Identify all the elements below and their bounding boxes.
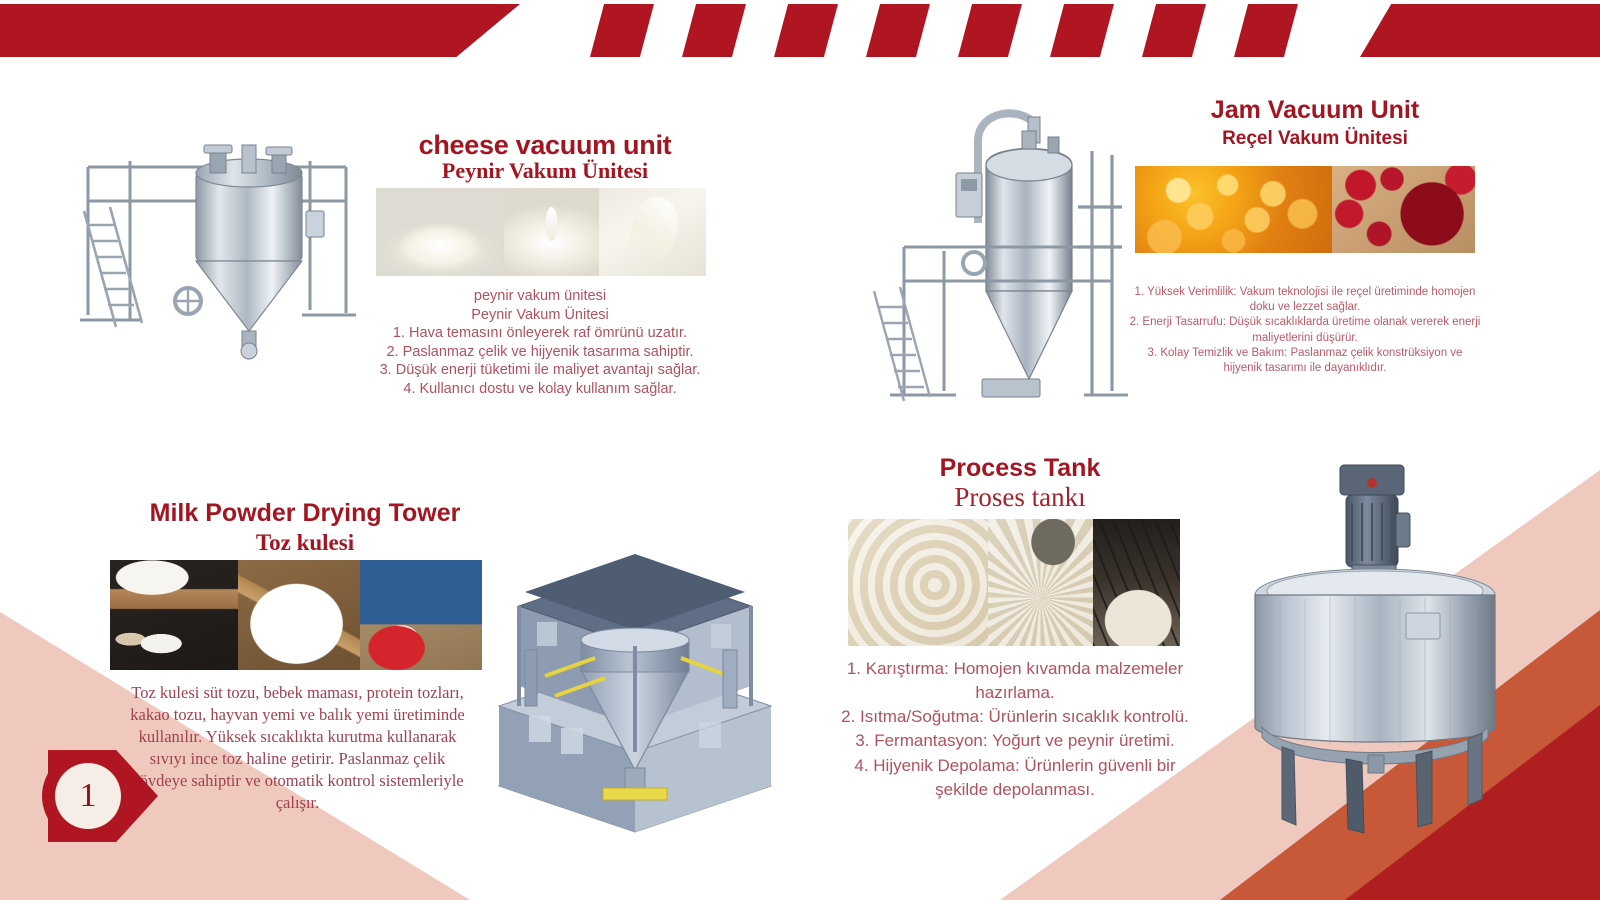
jam-vacuum-unit-description: 1. Yüksek Verimlilik: Vakum teknolojisi … <box>1125 285 1485 376</box>
tank-desc-line-5: 4. Hijyenik Depolama: Ürünlerin güvenli … <box>830 754 1200 778</box>
cheese-vacuum-unit-title-en: cheese vacuum unit <box>370 131 720 160</box>
process-tank-svg <box>1220 455 1530 835</box>
milk-powder-title-tr: Toz kulesi <box>115 530 495 555</box>
jam-desc-line-1: 1. Yüksek Verimlilik: Vakum teknolojisi … <box>1125 285 1485 300</box>
milk-splash-crown-photo <box>376 188 504 276</box>
header-stripe-1 <box>590 4 654 57</box>
jam-vacuum-unit-title-en: Jam Vacuum Unit <box>1140 97 1490 124</box>
cheese-desc-line-1: peynir vakum ünitesi <box>360 287 720 306</box>
jam-desc-line-4: maliyetlerini düşürür. <box>1125 331 1485 346</box>
jam-vacuum-unit-svg <box>860 95 1140 425</box>
page-number-label: 1 <box>55 763 121 829</box>
tank-desc-line-1: 1. Karıştırma: Homojen kıvamda malzemele… <box>830 657 1200 681</box>
header-banner <box>0 0 1600 62</box>
jam-vacuum-unit-machine <box>860 95 1140 425</box>
milk-powder-title-en: Milk Powder Drying Tower <box>115 500 495 527</box>
header-stripe-5 <box>958 4 1022 57</box>
milk-powder-tower-svg <box>485 500 775 840</box>
header-stripe-6 <box>1050 4 1114 57</box>
jam-desc-line-6: hijyenik tasarımı ile dayanıklıdır. <box>1125 361 1485 376</box>
header-stripe-7 <box>1142 4 1206 57</box>
powder-desc-line-1: Toz kulesi süt tozu, bebek maması, prote… <box>100 682 495 704</box>
header-stripe-3 <box>774 4 838 57</box>
header-band-right-block <box>1360 4 1600 57</box>
cheese-desc-line-5: 3. Düşük enerji tüketimi ile maliyet ava… <box>360 361 720 380</box>
milk-powder-photo-strip <box>110 560 482 670</box>
milk-drop-ripple-photo <box>504 188 599 276</box>
header-stripe-2 <box>682 4 746 57</box>
cheese-vacuum-unit-title-tr: Peynir Vakum Ünitesi <box>370 159 720 183</box>
cheese-vacuum-unit-description: peynir vakum ünitesi Peynir Vakum Ünites… <box>360 287 720 398</box>
section-cheese-vacuum-unit: cheese vacuum unit Peynir Vakum Ünitesi … <box>60 95 720 415</box>
cheese-desc-line-4: 2. Paslanmaz çelik ve hijyenik tasarıma … <box>360 343 720 362</box>
process-tank-title-en: Process Tank <box>850 455 1190 482</box>
milk-pour-splash-photo <box>599 188 706 276</box>
section-jam-vacuum-unit: Jam Vacuum Unit Reçel Vakum Ünitesi 1. Y… <box>860 75 1540 415</box>
jam-desc-line-3: 2. Enerji Tasarrufu: Düşük sıcaklıklarda… <box>1125 315 1485 330</box>
section-milk-powder-drying-tower: Milk Powder Drying Tower Toz kulesi Toz … <box>95 490 795 860</box>
cheese-desc-line-2: Peynir Vakum Ünitesi <box>360 306 720 325</box>
jam-vacuum-unit-title-tr: Reçel Vakum Ünitesi <box>1140 129 1490 150</box>
mixer-whisk-photo <box>1093 519 1180 646</box>
cheese-vacuum-unit-machine <box>70 115 360 365</box>
header-stripe-4 <box>866 4 930 57</box>
cheese-desc-line-3: 1. Hava temasını önleyerek raf ömrünü uz… <box>360 324 720 343</box>
apricot-jam-photo <box>1135 166 1332 253</box>
process-tank-title-tr: Proses tankı <box>850 483 1190 513</box>
powder-mixing-bowl-photo <box>238 560 360 670</box>
protein-powder-scoop-photo <box>360 560 482 670</box>
milk-powder-drying-tower-machine <box>485 500 775 840</box>
jam-desc-line-2: doku ve lezzet sağlar. <box>1125 300 1485 315</box>
process-tank-machine <box>1220 455 1530 835</box>
cream-swirl-photo <box>848 519 988 646</box>
brochure-page: cheese vacuum unit Peynir Vakum Ünitesi … <box>0 0 1600 900</box>
cheese-desc-line-6: 4. Kullanıcı dostu ve kolay kullanım sağ… <box>360 380 720 399</box>
whisked-cream-photo <box>988 519 1093 646</box>
tank-desc-line-6: şekilde depolanması. <box>830 778 1200 802</box>
cheese-vacuum-unit-svg <box>70 115 360 365</box>
section-process-tank: Process Tank Proses tankı 1. Karıştırma:… <box>820 445 1600 845</box>
powder-desc-line-3: kullanılır. Yüksek sıcaklıkta kurutma ku… <box>100 726 495 748</box>
tank-desc-line-2: hazırlama. <box>830 681 1200 705</box>
header-stripe-8 <box>1234 4 1298 57</box>
header-band-left-block <box>0 4 520 57</box>
page-number-badge: 1 <box>42 750 160 842</box>
cheese-vacuum-unit-photo-strip <box>376 188 706 276</box>
tank-desc-line-4: 3. Fermantasyon: Yoğurt ve peynir üretim… <box>830 729 1200 753</box>
tank-desc-line-3: 2. Isıtma/Soğutma: Ürünlerin sıcaklık ko… <box>830 705 1200 729</box>
strawberry-jam-jar-photo <box>1332 166 1475 253</box>
powder-desc-line-2: kakao tozu, hayvan yemi ve balık yemi ür… <box>100 704 495 726</box>
powder-bowl-spoon-photo <box>110 560 238 670</box>
process-tank-description: 1. Karıştırma: Homojen kıvamda malzemele… <box>830 657 1200 802</box>
jam-desc-line-5: 3. Kolay Temizlik ve Bakım: Paslanmaz çe… <box>1125 346 1485 361</box>
process-tank-photo-strip <box>848 519 1180 646</box>
jam-vacuum-unit-photo-strip <box>1135 166 1475 253</box>
